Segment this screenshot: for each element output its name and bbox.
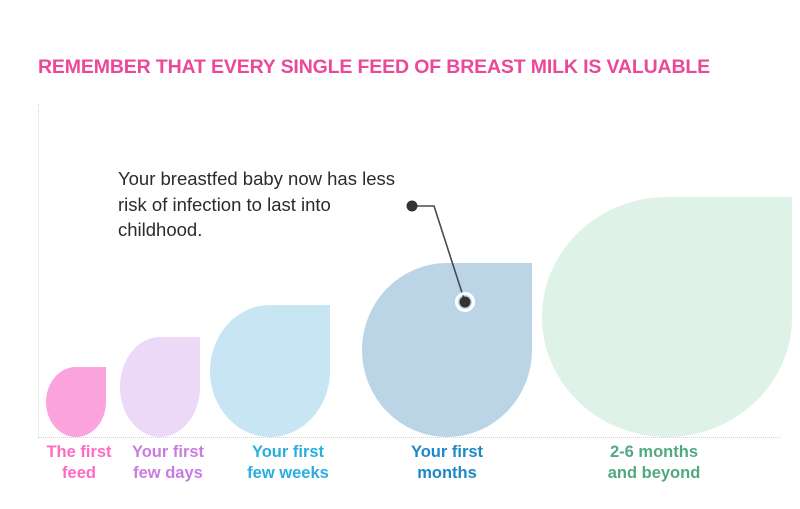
category-label-line-1: Your first xyxy=(121,442,215,463)
infographic-root: REMEMBER THAT EVERY SINGLE FEED OF BREAS… xyxy=(0,0,800,509)
category-label-line-1: Your first xyxy=(392,442,502,463)
category-label-1: The firstfeed xyxy=(40,442,118,484)
category-label-line-1: The first xyxy=(40,442,118,463)
annotation-line-1: Your breastfed baby now xyxy=(118,168,322,189)
category-label-line-1: 2-6 months xyxy=(592,442,716,463)
droplet-bar-2 xyxy=(120,337,200,437)
annotation-callout-text: Your breastfed baby now has less risk of… xyxy=(118,166,398,243)
category-label-line-2: few days xyxy=(121,463,215,484)
category-label-line-1: Your first xyxy=(232,442,344,463)
droplet-bar-3 xyxy=(210,305,330,437)
droplet-chart-plot-area xyxy=(0,0,800,509)
category-label-line-2: and beyond xyxy=(592,463,716,484)
category-label-line-2: few weeks xyxy=(232,463,344,484)
droplet-bar-4 xyxy=(362,263,532,437)
droplet-bar-5 xyxy=(542,197,792,437)
category-label-line-2: feed xyxy=(40,463,118,484)
droplet-bar-1 xyxy=(46,367,106,437)
category-label-2: Your firstfew days xyxy=(121,442,215,484)
category-label-line-2: months xyxy=(392,463,502,484)
category-label-5: 2-6 monthsand beyond xyxy=(592,442,716,484)
category-label-3: Your firstfew weeks xyxy=(232,442,344,484)
category-label-4: Your firstmonths xyxy=(392,442,502,484)
